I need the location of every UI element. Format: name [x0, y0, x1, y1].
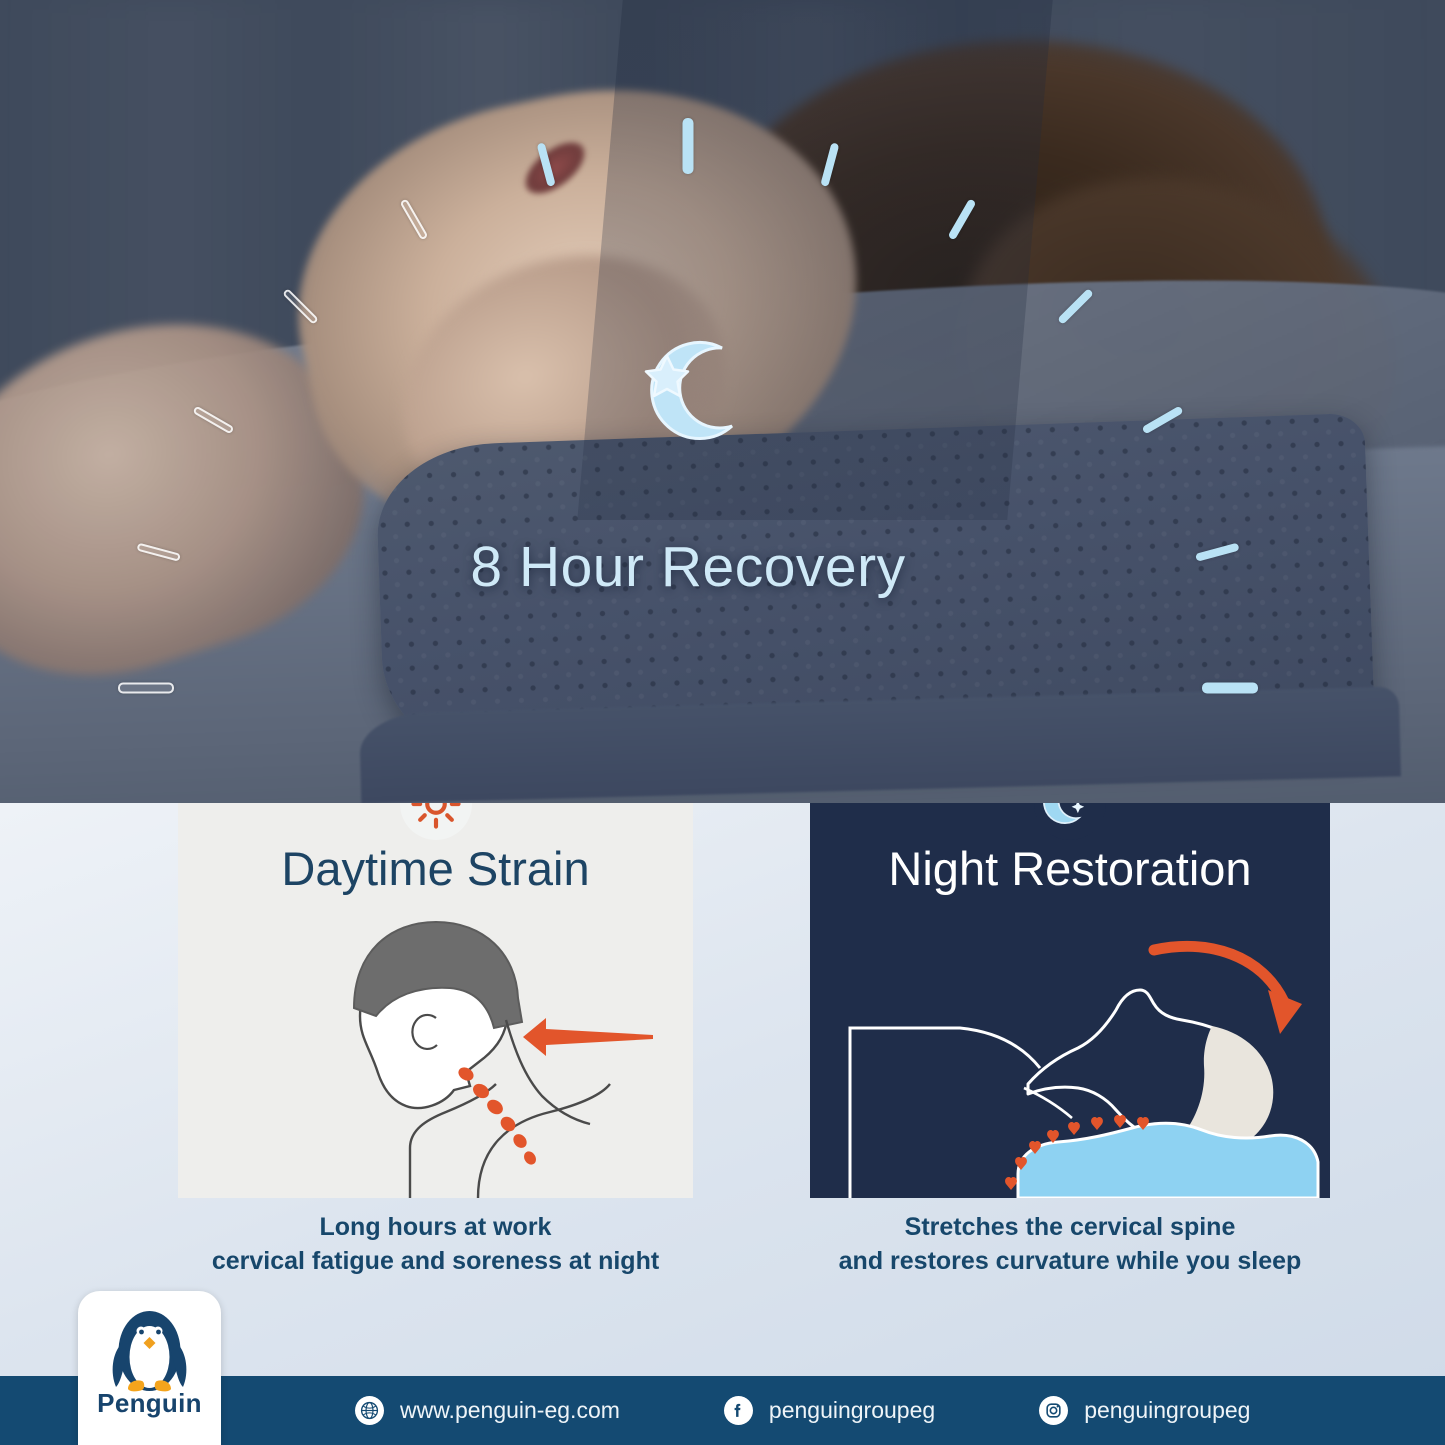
card-daytime-strain[interactable]: Daytime Strain [178, 803, 693, 1198]
card-title-daytime: Daytime Strain [178, 841, 693, 896]
card-title-night: Night Restoration [810, 841, 1330, 896]
moon-stars-icon [1034, 803, 1106, 840]
card-night-restoration[interactable]: Night Restoration [810, 803, 1330, 1198]
instagram-icon [1039, 1396, 1068, 1425]
poster-root: 8 Hour Recovery Daytime Strain [0, 0, 1445, 1445]
clock-tick [537, 142, 556, 187]
brand-name: Penguin [78, 1388, 221, 1419]
clock-tick [948, 198, 977, 240]
footer-website[interactable]: www.penguin-eg.com [355, 1396, 620, 1425]
facebook-icon [724, 1396, 753, 1425]
footer-instagram[interactable]: penguingroupeg [1039, 1396, 1250, 1425]
clock-tick [118, 683, 174, 694]
clock-tick [683, 118, 694, 174]
clock-tick [400, 198, 429, 240]
penguin-logo-icon [78, 1291, 221, 1403]
night-restoration-illustration [810, 898, 1330, 1198]
caption-daytime: Long hours at work cervical fatigue and … [178, 1211, 693, 1279]
crescent-moon-star-icon [626, 326, 756, 456]
hero-photo: 8 Hour Recovery [0, 0, 1445, 803]
caption-daytime-line1: Long hours at work [178, 1211, 693, 1245]
globe-icon [355, 1396, 384, 1425]
clock-tick [1202, 683, 1258, 694]
footer-website-label: www.penguin-eg.com [400, 1397, 620, 1424]
footer-links: www.penguin-eg.com penguingroupeg pengui… [355, 1376, 1375, 1445]
caption-night-line1: Stretches the cervical spine [810, 1211, 1330, 1245]
clock-dial: 8 Hour Recovery [338, 96, 1038, 766]
clock-tick [820, 142, 839, 187]
footer-instagram-label: penguingroupeg [1084, 1397, 1250, 1424]
caption-night: Stretches the cervical spine and restore… [810, 1211, 1330, 1279]
footer-facebook[interactable]: penguingroupeg [724, 1396, 935, 1425]
footer-facebook-label: penguingroupeg [769, 1397, 935, 1424]
penguin-logo-card[interactable]: Penguin [78, 1291, 221, 1445]
hero-title: 8 Hour Recovery [338, 534, 1038, 600]
caption-night-line2: and restores curvature while you sleep [810, 1245, 1330, 1279]
sun-icon [400, 803, 472, 840]
daytime-strain-illustration [178, 898, 693, 1198]
caption-daytime-line2: cervical fatigue and soreness at night [178, 1245, 693, 1279]
